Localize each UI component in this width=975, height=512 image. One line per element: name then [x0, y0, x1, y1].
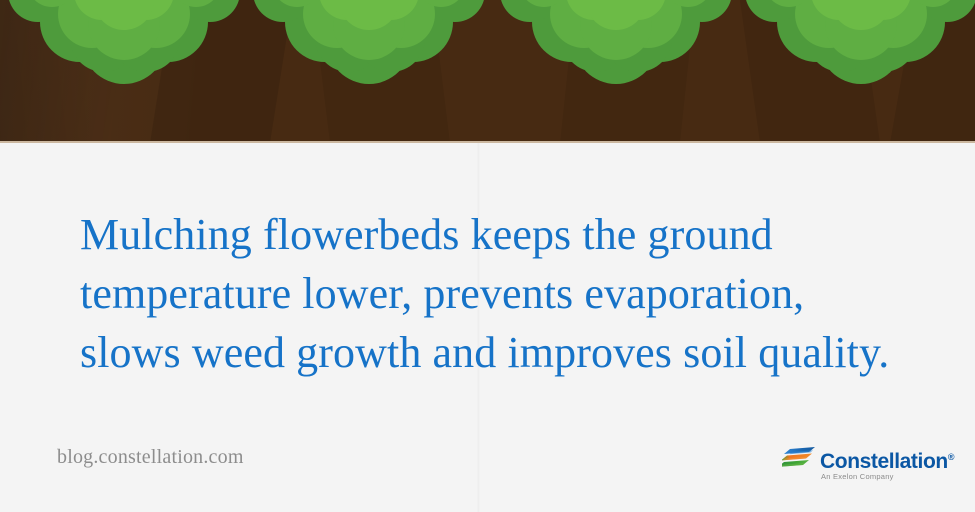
constellation-swoosh-icon: [782, 446, 816, 470]
headline-quote: Mulching flowerbeds keeps the ground tem…: [80, 205, 940, 382]
bush-shape: [253, 0, 485, 114]
headline-line-2: temperature lower, prevents evaporation,: [80, 264, 940, 323]
content-area: Mulching flowerbeds keeps the ground tem…: [0, 143, 975, 512]
logo-tagline: An Exelon Company: [821, 472, 894, 481]
bush-shape: [8, 0, 240, 114]
constellation-wordmark: Constellation®: [820, 447, 954, 472]
bush-shape: [500, 0, 732, 114]
blog-url-text[interactable]: blog.constellation.com: [57, 446, 244, 469]
headline-line-3: slows weed growth and improves soil qual…: [80, 323, 940, 382]
bush-shape: [745, 0, 975, 114]
constellation-logo[interactable]: Constellation® An Exelon Company: [782, 443, 922, 483]
wordmark-text: Constellation: [820, 450, 948, 473]
registered-trademark-icon: ®: [948, 452, 955, 462]
headline-line-1: Mulching flowerbeds keeps the ground: [80, 205, 940, 264]
social-quote-card: Mulching flowerbeds keeps the ground tem…: [0, 0, 975, 512]
banner-illustration: [0, 0, 975, 143]
